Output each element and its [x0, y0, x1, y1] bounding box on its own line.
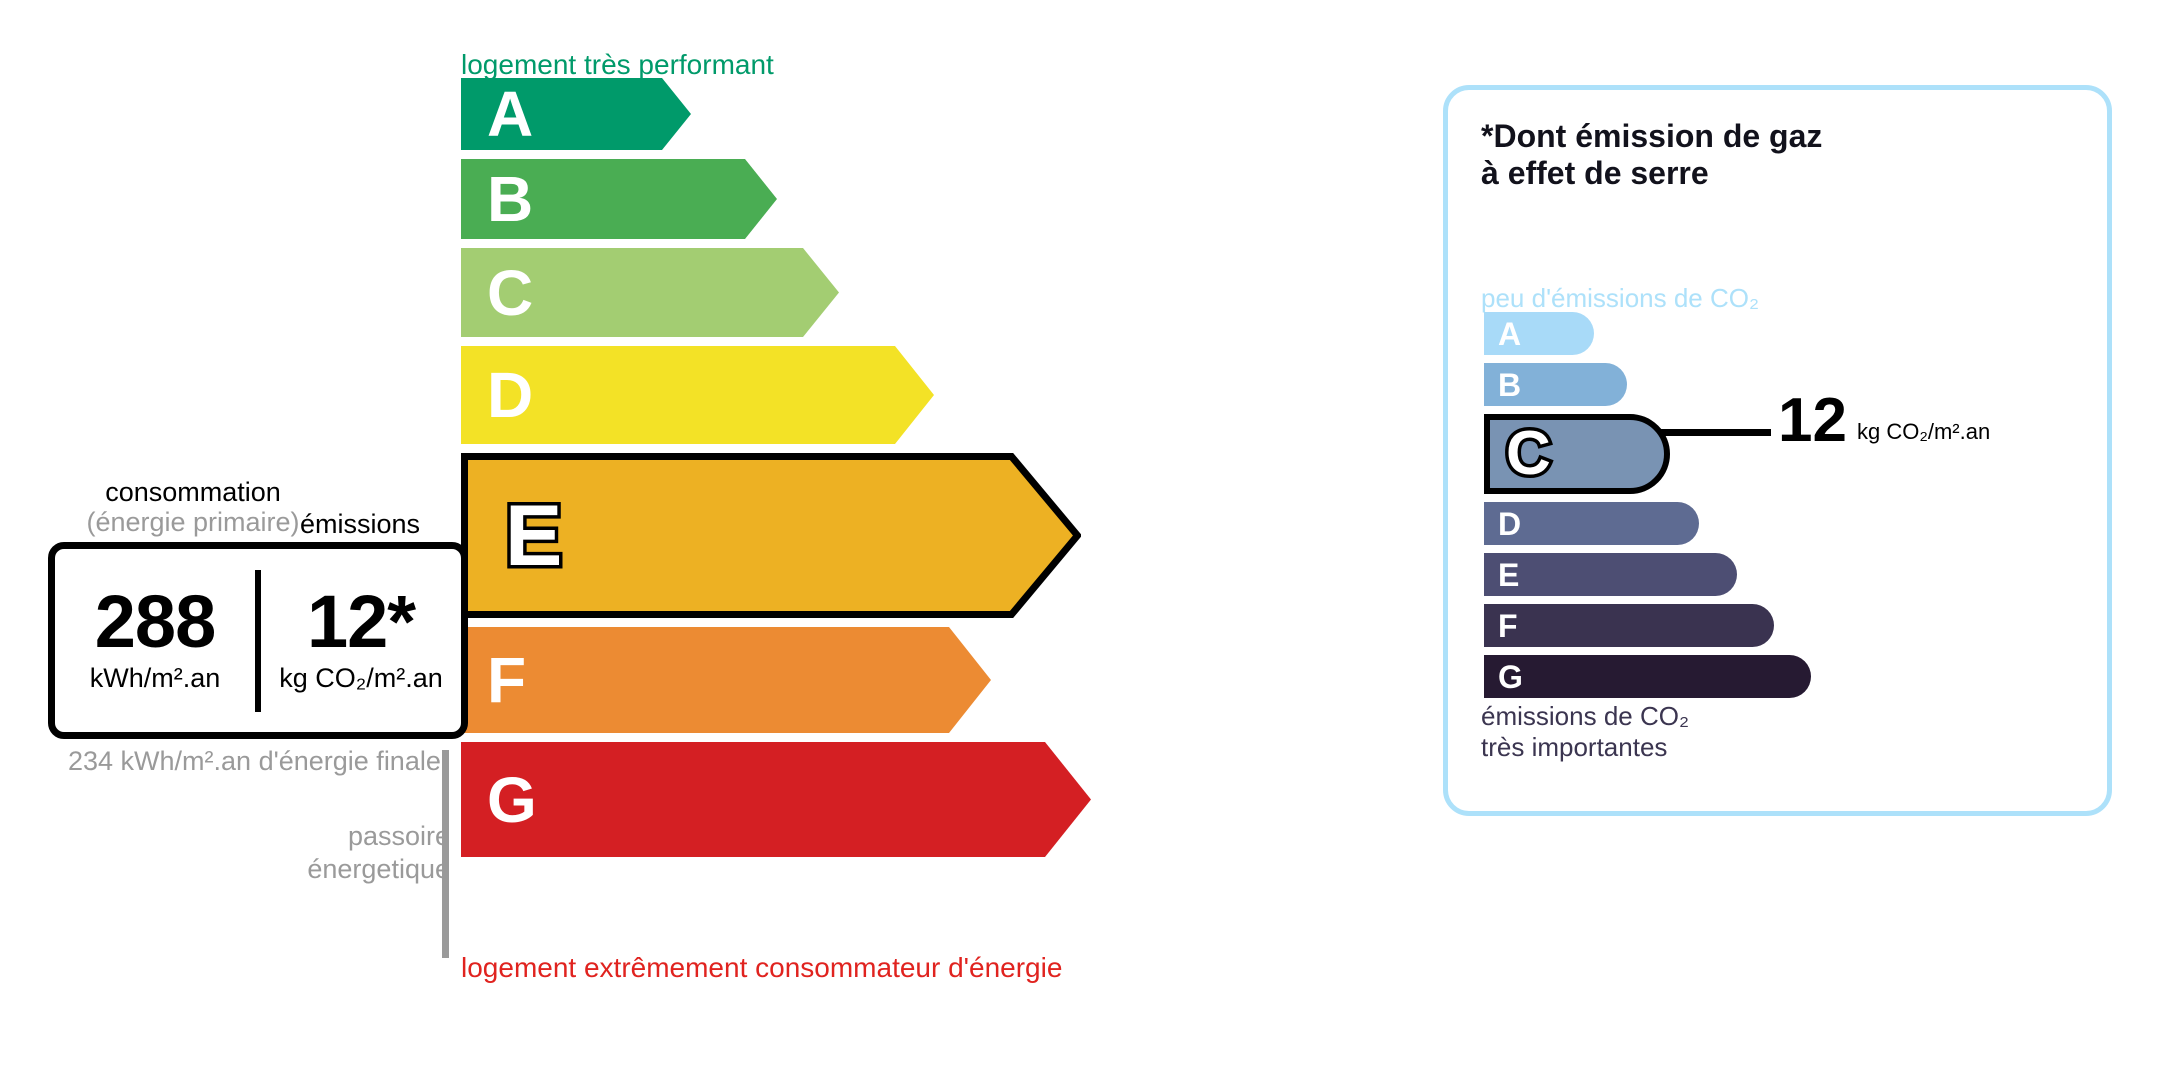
energy-bottom-annotation: logement extrêmement consommateur d'éner… — [461, 952, 1062, 984]
consumption-value: 288 — [95, 587, 215, 657]
emissions-label: émissions — [300, 509, 420, 540]
co2-row-C: C — [1484, 414, 1670, 494]
co2-row-E: E — [1484, 553, 1737, 596]
co2-callout: 12 kg CO₂/m².an — [1778, 390, 1990, 452]
consumption-value-cell: 288 kWh/m².an — [55, 587, 255, 694]
energy-row-G: G — [461, 742, 1091, 857]
energy-arrow-G: G — [461, 742, 1091, 857]
energy-performance-chart: logement très performant ABCDEFG logemen… — [0, 0, 1300, 1079]
value-box: 288 kWh/m².an 12* kg CO₂/m².an — [48, 542, 468, 739]
emission-value: 12* — [307, 587, 415, 657]
consumption-label-main: consommation — [105, 477, 281, 507]
co2-top-annotation: peu d'émissions de CO₂ — [1481, 283, 1759, 314]
co2-letter-G: G — [1498, 661, 1523, 693]
co2-row-B: B — [1484, 363, 1627, 406]
energy-arrow-B: B — [461, 159, 777, 239]
co2-callout-unit: kg CO₂/m².an — [1857, 419, 1990, 445]
co2-row-G: G — [1484, 655, 1811, 698]
passoire-line-2: énergetique — [307, 854, 450, 884]
energy-row-C: C — [461, 248, 839, 337]
co2-panel-title: *Dont émission de gaz à effet de serre — [1481, 118, 1822, 192]
co2-bar-F: F — [1484, 604, 1774, 647]
passoire-energetique-note: passoire énergetique — [280, 820, 450, 886]
consumption-label-sub: (énergie primaire) — [68, 508, 318, 538]
co2-letter-F: F — [1498, 610, 1518, 642]
co2-callout-value: 12 — [1778, 390, 1847, 452]
energy-arrow-E: E — [461, 453, 1081, 618]
energy-top-annotation: logement très performant — [461, 49, 774, 81]
co2-bar-E: E — [1484, 553, 1737, 596]
final-energy-note: 234 kWh/m².an d'énergie finale — [68, 745, 441, 778]
consumption-unit: kWh/m².an — [90, 663, 221, 694]
co2-letter-A: A — [1498, 318, 1521, 350]
energy-row-A: A — [461, 78, 691, 150]
energy-row-E: E — [461, 453, 1081, 618]
emission-unit: kg CO₂/m².an — [279, 663, 443, 694]
co2-letter-D: D — [1498, 508, 1521, 540]
co2-row-F: F — [1484, 604, 1774, 647]
co2-bar-G: G — [1484, 655, 1811, 698]
energy-arrow-A: A — [461, 78, 691, 150]
co2-bar-A: A — [1484, 312, 1594, 355]
energy-arrow-D: D — [461, 346, 934, 444]
energy-arrow-F: F — [461, 627, 991, 733]
co2-letter-C: C — [1506, 423, 1551, 485]
co2-row-A: A — [1484, 312, 1594, 355]
energy-row-F: F — [461, 627, 991, 733]
energy-arrow-C: C — [461, 248, 839, 337]
co2-letter-E: E — [1498, 559, 1519, 591]
co2-bar-B: B — [1484, 363, 1627, 406]
dpe-label: logement très performant ABCDEFG logemen… — [0, 0, 2169, 1079]
co2-emissions-panel: *Dont émission de gaz à effet de serre p… — [1443, 85, 2112, 816]
co2-bottom-annotation: émissions de CO₂ très importantes — [1481, 701, 1689, 763]
co2-row-D: D — [1484, 502, 1699, 545]
consumption-label: consommation (énergie primaire) — [68, 478, 318, 537]
co2-bar-D: D — [1484, 502, 1699, 545]
co2-letter-B: B — [1498, 369, 1521, 401]
passoire-bracket — [442, 750, 449, 958]
energy-row-D: D — [461, 346, 934, 444]
co2-callout-leader-line — [1661, 429, 1771, 436]
co2-bar-C: C — [1484, 414, 1670, 494]
energy-row-B: B — [461, 159, 777, 239]
emission-value-cell: 12* kg CO₂/m².an — [261, 587, 461, 694]
passoire-line-1: passoire — [348, 821, 450, 851]
